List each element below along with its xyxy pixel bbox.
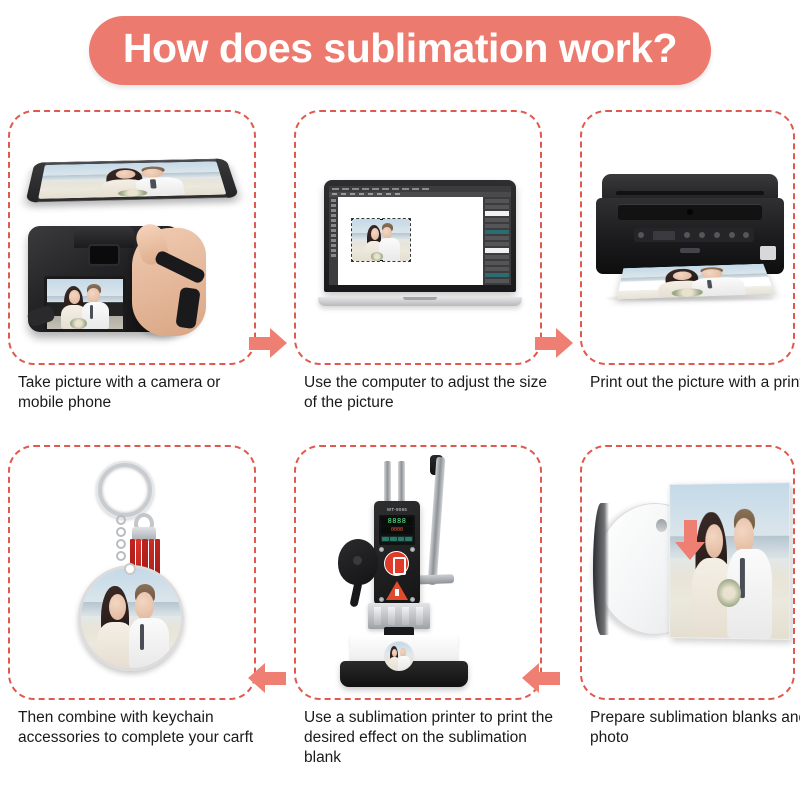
step-card-3: Print out the picture with a printer bbox=[580, 110, 800, 410]
display-temperature: 8888 bbox=[381, 517, 413, 526]
step-card-1: Take picture with a camera or mobile pho… bbox=[8, 110, 280, 410]
step-card-5: WT-9065 8888 0000 bbox=[294, 445, 566, 745]
step-2-illustration-panel bbox=[294, 110, 542, 365]
printed-photo bbox=[617, 264, 775, 300]
sublimation-blank-on-press bbox=[384, 641, 414, 671]
editor-side-panels bbox=[483, 197, 511, 285]
printer-control-panel bbox=[634, 228, 754, 242]
sublimation-blanks-icon bbox=[596, 483, 786, 673]
heat-press-icon: WT-9065 8888 0000 bbox=[332, 455, 508, 695]
no-touch-warning-icon bbox=[384, 551, 409, 576]
steps-row-bottom: Then combine with keychain accessories t… bbox=[0, 445, 800, 745]
step-5-caption: Use a sublimation printer to print the d… bbox=[304, 708, 554, 768]
press-head: WT-9065 8888 0000 bbox=[374, 501, 420, 605]
press-control-keys[interactable] bbox=[381, 536, 413, 542]
arrow-step5-to-step4-icon bbox=[248, 663, 286, 693]
printer-icon bbox=[596, 174, 784, 314]
step-4-illustration-panel bbox=[8, 445, 256, 700]
step-6-caption: Prepare sublimation blanks and photo bbox=[590, 708, 800, 748]
arrow-step1-to-step2-icon bbox=[249, 328, 287, 358]
canvas-photo-selection bbox=[352, 219, 410, 261]
photo-print bbox=[669, 482, 790, 640]
step-3-illustration-panel bbox=[580, 110, 795, 365]
step-card-6: Prepare sublimation blanks and photo bbox=[580, 445, 800, 745]
disc-hole bbox=[656, 519, 667, 532]
phone-screen-photo bbox=[38, 161, 226, 198]
header: How does sublimation work? bbox=[0, 0, 800, 100]
press-lever[interactable] bbox=[349, 580, 362, 607]
step-6-illustration-panel bbox=[580, 445, 795, 700]
press-digital-display: 8888 0000 bbox=[379, 515, 415, 545]
arrow-step2-to-step3-icon bbox=[535, 328, 573, 358]
keychain-chain bbox=[116, 515, 126, 571]
editor-toolbar bbox=[329, 197, 338, 285]
step-1-caption: Take picture with a camera or mobile pho… bbox=[18, 373, 268, 413]
steps-row-top: Take picture with a camera or mobile pho… bbox=[0, 110, 800, 410]
step-card-4: Then combine with keychain accessories t… bbox=[8, 445, 280, 745]
step-2-caption: Use the computer to adjust the size of t… bbox=[304, 373, 554, 413]
arrow-step3-to-step6-icon bbox=[675, 520, 705, 560]
page-title: How does sublimation work? bbox=[89, 16, 711, 85]
steps-grid: Take picture with a camera or mobile pho… bbox=[0, 100, 800, 800]
keyring-icon bbox=[96, 461, 154, 519]
laptop-icon bbox=[318, 180, 522, 306]
hot-surface-warning-icon bbox=[386, 581, 408, 600]
press-heat-plate bbox=[368, 603, 430, 629]
laptop-base bbox=[318, 297, 522, 306]
photo-editor-screen bbox=[329, 186, 511, 285]
keychain-photo-disc bbox=[78, 565, 184, 671]
step-4-caption: Then combine with keychain accessories t… bbox=[18, 708, 268, 748]
step-1-illustration-panel bbox=[8, 110, 256, 365]
step-3-caption: Print out the picture with a printer bbox=[590, 373, 800, 393]
smartphone-icon bbox=[25, 158, 239, 202]
step-5-illustration-panel: WT-9065 8888 0000 bbox=[294, 445, 542, 700]
press-pressure-wheel[interactable] bbox=[338, 539, 378, 585]
display-timer: 0000 bbox=[381, 527, 413, 534]
arrow-step6-to-step5-icon bbox=[522, 663, 560, 693]
step-card-2: Use the computer to adjust the size of t… bbox=[294, 110, 566, 410]
keychain-icon bbox=[60, 461, 210, 689]
camera-lcd-photo bbox=[44, 276, 126, 332]
dslr-camera-icon bbox=[28, 212, 224, 340]
machine-model-label: WT-9065 bbox=[378, 507, 416, 512]
editor-canvas bbox=[338, 197, 483, 285]
